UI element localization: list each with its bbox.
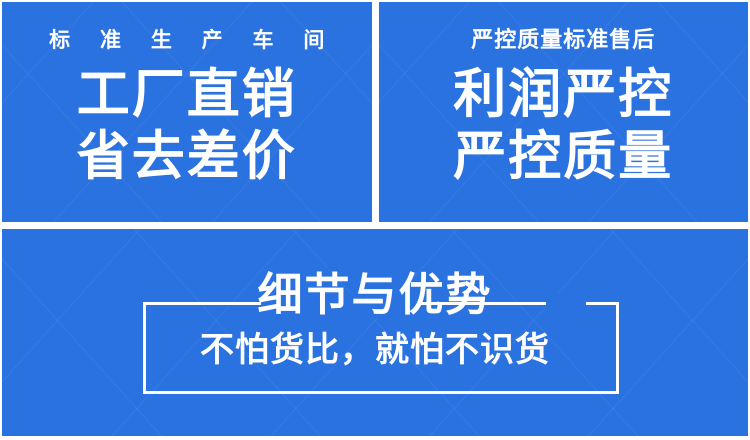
panel-quality-control: 严控质量标准售后 利润严控 严控质量 <box>379 2 749 222</box>
panel-details-advantages: 细节与优势 不怕货比，就怕不识货 <box>2 229 748 436</box>
details-advantages-title: 细节与优势 <box>2 272 748 317</box>
panel-factory-direct-headline-line2: 省去差价 <box>77 127 297 187</box>
top-panel-row: 标 准 生 产 车 间 工厂直销 省去差价 严控质量标准售后 利润严控 严控质量 <box>2 2 748 222</box>
panel-factory-direct-headline-line1: 工厂直销 <box>77 65 297 125</box>
panel-quality-control-content: 严控质量标准售后 利润严控 严控质量 <box>379 2 749 188</box>
panel-factory-direct-content: 标 准 生 产 车 间 工厂直销 省去差价 <box>2 2 372 188</box>
panel-quality-control-headline-line1: 利润严控 <box>453 65 673 125</box>
panel-quality-control-headline-line2: 严控质量 <box>453 127 673 187</box>
promo-banner: 标 准 生 产 车 间 工厂直销 省去差价 严控质量标准售后 利润严控 严控质量… <box>0 0 750 440</box>
panel-factory-direct-eyebrow: 标 准 生 产 车 间 <box>37 30 336 51</box>
panel-factory-direct: 标 准 生 产 车 间 工厂直销 省去差价 <box>2 2 372 222</box>
panel-quality-control-eyebrow: 严控质量标准售后 <box>471 29 655 51</box>
details-advantages-subtitle: 不怕货比，就怕不识货 <box>2 333 748 367</box>
